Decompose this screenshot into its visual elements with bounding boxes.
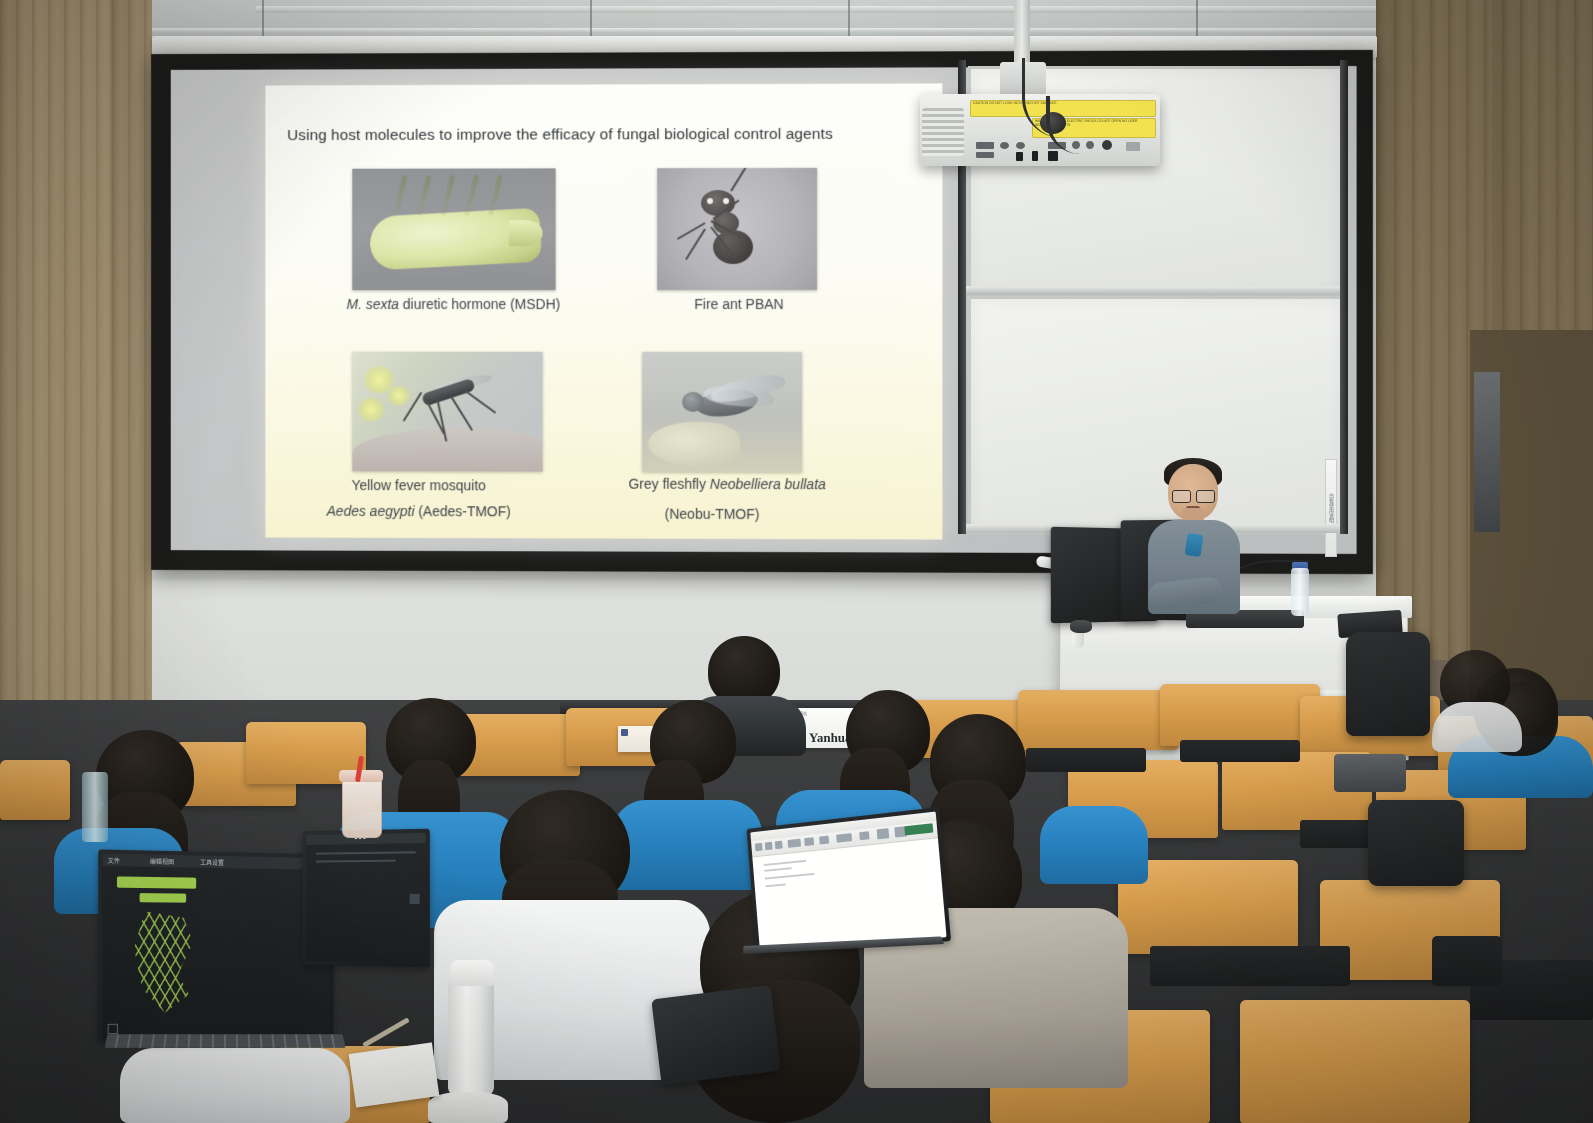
caption-fleshfly-italic: Neobelliera bullata — [710, 476, 826, 492]
jacket-on-seat — [1334, 754, 1406, 792]
fleshfly-substrate — [648, 422, 740, 466]
seat-back[interactable] — [1160, 684, 1320, 746]
wood-wall-left — [0, 0, 152, 760]
presenter-lanyard — [1185, 533, 1204, 557]
desk-surface — [1180, 740, 1300, 762]
slide-image-fire-ant — [657, 168, 817, 290]
caption-caterpillar-rest: diuretic hormone (MSDH) — [399, 296, 560, 312]
whiteboard-right-post — [1340, 60, 1348, 534]
caption-mosquito-line2: Aedes aegypti (Aedes-TMOF) — [285, 503, 552, 520]
projector-vent — [922, 108, 964, 156]
slide-image-fleshfly — [642, 352, 802, 472]
placard-logo-icon — [621, 729, 628, 736]
whiteboard-rail — [962, 286, 1346, 295]
bag-dark — [1432, 936, 1502, 986]
slide-image-mosquito — [352, 352, 542, 472]
lecture-hall-photo: Using host molecules to improve the effi… — [0, 0, 1593, 1123]
laptop-tab-3[interactable]: 工具设置 — [200, 858, 224, 867]
tablet-device[interactable] — [651, 985, 781, 1085]
whiteboard-label-strip: 白板使用说明 — [1325, 459, 1337, 557]
seat-back[interactable] — [1240, 1000, 1470, 1123]
caption-fleshfly-line2: (Neobu-TMOF) — [592, 506, 832, 523]
projected-slide: Using host molecules to improve the effi… — [265, 83, 942, 539]
mosquito-skin — [352, 427, 542, 471]
wall-fixture — [1474, 372, 1500, 532]
caption-fire-ant-text: Fire ant PBAN — [694, 296, 783, 312]
student-torso — [1040, 806, 1148, 884]
seat-back[interactable] — [0, 760, 70, 820]
caption-fleshfly-rest: Grey fleshfly — [628, 476, 709, 492]
laptop-screen-right[interactable] — [750, 812, 946, 951]
whiteboard-lower: 白板使用说明 — [968, 296, 1344, 534]
student-torso — [1432, 702, 1522, 752]
slide-image-caterpillar — [352, 168, 555, 290]
notebook — [349, 1042, 440, 1107]
laptop-screen-left[interactable]: 文件 编辑视图 工具设置 — [102, 854, 329, 1039]
podium-mouse[interactable] — [1070, 620, 1092, 633]
presenter-glasses-right — [1196, 490, 1215, 503]
student-torso — [120, 1048, 350, 1123]
seat-back[interactable] — [1018, 690, 1178, 750]
caption-mosquito-italic: Aedes aegypti — [327, 503, 415, 519]
water-bottle-student — [82, 772, 108, 842]
fleshfly-head — [682, 392, 704, 412]
drink-cup — [342, 778, 382, 838]
thermos-bottle — [448, 978, 494, 1096]
laptop-screen-second[interactable]: ■ ■ ■ — [306, 833, 425, 963]
laptop-lid: ■ ■ ■ — [303, 829, 430, 968]
laptop-lid: 文件 编辑视图 工具设置 — [98, 849, 333, 1042]
laptop-keyboard[interactable] — [105, 1034, 346, 1048]
desk-surface — [1026, 748, 1146, 772]
caption-mosquito-rest: (Aedes-TMOF) — [414, 503, 510, 519]
presenter-glasses-left — [1172, 490, 1191, 503]
desk-surface — [1150, 946, 1350, 986]
caption-caterpillar-italic: M. sexta — [347, 296, 399, 312]
laptop-tab-1[interactable]: 文件 — [108, 856, 120, 865]
bag — [1368, 800, 1464, 886]
slide-title: Using host molecules to improve the effi… — [287, 126, 924, 145]
ceiling-rail-2 — [150, 28, 1390, 33]
caption-fire-ant: Fire ant PBAN — [644, 296, 834, 312]
ceiling-seam — [848, 0, 850, 38]
caption-caterpillar: M. sexta diuretic hormone (MSDH) — [315, 296, 593, 312]
molecular-structure-graphic — [131, 911, 198, 1013]
student-torso — [612, 800, 762, 890]
bowl — [428, 1092, 508, 1123]
thermos-cap — [450, 960, 494, 986]
backpack — [1346, 632, 1430, 736]
caption-fleshfly-line1: Grey fleshfly Neobelliera bullata — [563, 476, 893, 493]
ceiling-rail — [256, 6, 1386, 13]
ceiling-seam — [590, 0, 592, 40]
caption-mosquito-line1: Yellow fever mosquito — [295, 477, 543, 494]
laptop-tab-2[interactable]: 编辑视图 — [150, 857, 174, 867]
laptop-lid — [746, 807, 951, 954]
